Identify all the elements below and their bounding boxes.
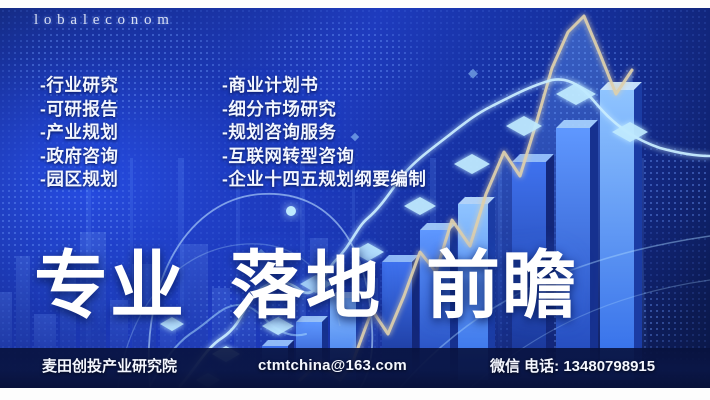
service-item: -园区规划 [40,168,118,192]
service-item: -可研报告 [40,98,118,122]
poster-canvas: l o b a l e c o n o m -行业研究 -可研报告 -产业规划 … [0,8,710,388]
service-item: -规划咨询服务 [222,121,426,145]
services-right-column: -商业计划书 -细分市场研究 -规划咨询服务 -互联网转型咨询 -企业十四五规划… [222,74,426,192]
chart-artwork [0,8,710,388]
headline-word-2: 落地 [230,246,382,326]
footer-row: 麦田创投产业研究院 ctmtchina@163.com 微信 电话: 13480… [0,348,710,382]
service-item: -行业研究 [40,74,118,98]
service-item: -互联网转型咨询 [222,145,426,169]
headline-word-3: 前瞻 [426,246,578,326]
orbit-node-dot [286,206,296,216]
top-margin [0,0,710,8]
service-item: -细分市场研究 [222,98,426,122]
footer-email[interactable]: ctmtchina@163.com [258,357,407,374]
headline-word-1: 专业 [34,246,186,326]
banner-word: l o b a l e c o n o m [34,12,170,29]
headline-group: 专业 落地 前瞻 [34,246,578,326]
footer-contact: 微信 电话: 13480798915 [490,355,655,376]
service-item: -企业十四五规划纲要编制 [222,168,426,192]
footer-org: 麦田创投产业研究院 [42,355,177,376]
poster-root: l o b a l e c o n o m -行业研究 -可研报告 -产业规划 … [0,0,710,400]
service-item: -产业规划 [40,121,118,145]
service-item: -商业计划书 [222,74,426,98]
services-left-column: -行业研究 -可研报告 -产业规划 -政府咨询 -园区规划 [40,74,118,192]
bottom-margin [0,388,710,400]
service-item: -政府咨询 [40,145,118,169]
